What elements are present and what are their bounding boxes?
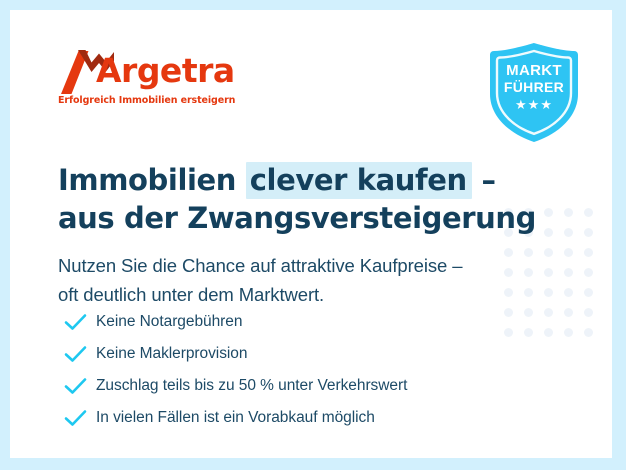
dot (564, 228, 573, 237)
dot (544, 328, 553, 337)
dot (544, 288, 553, 297)
headline: Immobilien clever kaufen – aus der Zwang… (58, 161, 536, 237)
benefit-label: In vielen Fällen ist ein Vorabkauf mögli… (96, 408, 375, 428)
subheadline-line-1: Nutzen Sie die Chance auf attraktive Kau… (58, 255, 462, 276)
benefit-label: Keine Notargebühren (96, 312, 242, 332)
dot (584, 308, 593, 317)
promo-banner: Argetra Erfolgreich Immobilien ersteiger… (0, 0, 626, 470)
dot (524, 288, 533, 297)
list-item: Zuschlag teils bis zu 50 % unter Verkehr… (64, 370, 407, 402)
check-icon (64, 377, 88, 395)
dot (504, 328, 513, 337)
dot (564, 288, 573, 297)
dot (544, 228, 553, 237)
dot (524, 328, 533, 337)
dot (564, 248, 573, 257)
list-item: In vielen Fällen ist ein Vorabkauf mögli… (64, 402, 407, 434)
list-item: Keine Maklerprovision (64, 338, 407, 370)
dot (584, 288, 593, 297)
headline-text-before: Immobilien (58, 163, 246, 197)
dot (544, 308, 553, 317)
dot (564, 308, 573, 317)
dot (544, 248, 553, 257)
dot (584, 248, 593, 257)
dot (584, 328, 593, 337)
dot (564, 328, 573, 337)
dot (584, 228, 593, 237)
list-item: Keine Notargebühren (64, 306, 407, 338)
check-icon (64, 409, 88, 427)
dot (584, 208, 593, 217)
dot (544, 208, 553, 217)
market-leader-badge: MARKT FÜHRER ★★★ (488, 42, 580, 144)
headline-line-1: Immobilien clever kaufen – (58, 162, 496, 199)
dot (524, 268, 533, 277)
dot (564, 208, 573, 217)
dot (544, 268, 553, 277)
check-icon (64, 313, 88, 331)
dot (564, 268, 573, 277)
dot (504, 308, 513, 317)
logo-lockup: Argetra (58, 48, 235, 94)
banner-card: Argetra Erfolgreich Immobilien ersteiger… (10, 10, 612, 458)
dot (584, 268, 593, 277)
logo-wordmark: Argetra (96, 51, 235, 91)
dot (504, 288, 513, 297)
shield-icon (488, 42, 580, 144)
headline-text-after: – (472, 163, 496, 197)
headline-line-2: aus der Zwangsversteigerung (58, 201, 536, 235)
benefit-list: Keine Notargebühren Keine Maklerprovisio… (64, 306, 407, 434)
subheadline-line-2: oft deutlich unter dem Marktwert. (58, 284, 324, 305)
dot (504, 268, 513, 277)
benefit-label: Keine Maklerprovision (96, 344, 247, 364)
dot (504, 248, 513, 257)
argetra-logo: Argetra Erfolgreich Immobilien ersteiger… (58, 48, 235, 106)
dot (524, 248, 533, 257)
dot (524, 308, 533, 317)
headline-highlight: clever kaufen (246, 162, 472, 199)
check-icon (64, 345, 88, 363)
benefit-label: Zuschlag teils bis zu 50 % unter Verkehr… (96, 376, 407, 396)
subheadline: Nutzen Sie die Chance auf attraktive Kau… (58, 251, 462, 309)
